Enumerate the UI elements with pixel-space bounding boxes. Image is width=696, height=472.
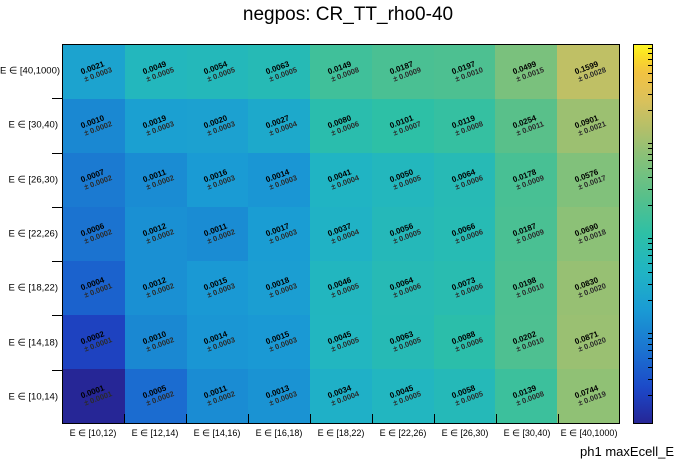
heatmap-cell-label: 0.0041± 0.0004: [321, 166, 360, 195]
heatmap-cell[interactable]: 0.0034± 0.0004: [310, 369, 372, 423]
heatmap-cell[interactable]: 0.0010± 0.0002: [125, 315, 187, 369]
heatmap-cell[interactable]: 0.0045± 0.0005: [310, 315, 372, 369]
heatmap-cell-error: ± 0.0021: [577, 120, 607, 138]
heatmap-cell-label: 0.0050± 0.0005: [383, 166, 422, 195]
heatmap-cell-error: ± 0.0011: [516, 120, 546, 138]
heatmap-cell-value: 0.0901: [569, 112, 605, 133]
heatmap-cell-label: 0.0045± 0.0005: [383, 382, 422, 411]
heatmap-cell-value: 0.0830: [569, 274, 605, 295]
heatmap-cell-error: ± 0.0003: [207, 174, 237, 192]
heatmap-cell-value: 0.0004: [74, 274, 110, 295]
heatmap-cell-value: 0.0046: [321, 274, 357, 295]
heatmap-cell-label: 0.0058± 0.0005: [445, 382, 484, 411]
heatmap-cell[interactable]: 0.0046± 0.0005: [310, 261, 372, 315]
x-axis-tick-mark: [124, 414, 125, 424]
heatmap-plot-area[interactable]: 0.0021± 0.00030.0049± 0.00050.0054± 0.00…: [62, 44, 620, 424]
heatmap-cell-value: 0.0744: [569, 382, 605, 403]
heatmap-cell-value: 0.0010: [136, 328, 172, 349]
heatmap-cell-label: 0.0064± 0.0006: [383, 274, 422, 303]
heatmap-cell[interactable]: 0.0005± 0.0002: [125, 369, 187, 423]
heatmap-cell-value: 0.0041: [321, 166, 357, 187]
heatmap-cell[interactable]: 0.0063± 0.0005: [248, 45, 310, 99]
heatmap-cell-label: 0.0066± 0.0006: [445, 220, 484, 249]
heatmap-cell-value: 0.0018: [260, 274, 296, 295]
heatmap-cell-error: ± 0.0004: [330, 228, 360, 246]
heatmap-cell-error: ± 0.0009: [516, 174, 546, 192]
heatmap-cell-error: ± 0.0006: [330, 120, 360, 138]
heatmap-cell-error: ± 0.0003: [83, 66, 113, 84]
heatmap-cell[interactable]: 0.0049± 0.0005: [125, 45, 187, 99]
heatmap-cell-value: 0.0005: [136, 382, 172, 403]
heatmap-cell-value: 0.0015: [198, 274, 234, 295]
heatmap-cell[interactable]: 0.0050± 0.0005: [372, 153, 434, 207]
heatmap-cell[interactable]: 0.0015± 0.0003: [187, 261, 249, 315]
heatmap-cell-error: ± 0.0004: [330, 390, 360, 408]
heatmap-cell-value: 0.0013: [260, 382, 296, 403]
heatmap-cell-error: ± 0.0001: [83, 282, 113, 300]
heatmap-cell-value: 0.0054: [198, 58, 234, 79]
heatmap-cell-label: 0.0045± 0.0005: [321, 328, 360, 357]
heatmap-cell-value: 0.0063: [260, 58, 296, 79]
heatmap-cell-value: 0.0690: [569, 220, 605, 241]
heatmap-cell[interactable]: 0.0041± 0.0004: [310, 153, 372, 207]
heatmap-cell-label: 0.0198± 0.0010: [507, 274, 546, 303]
y-axis-tick-label: E ∈ [30,40): [0, 120, 58, 131]
heatmap-cell-value: 0.0037: [321, 220, 357, 241]
heatmap-cell-error: ± 0.0018: [577, 228, 607, 246]
heatmap-cell[interactable]: 0.0744± 0.0019: [557, 369, 619, 423]
heatmap-cell-label: 0.0187± 0.0009: [507, 220, 546, 249]
heatmap-cell[interactable]: 0.0690± 0.0018: [557, 207, 619, 261]
colorbar-minor-tick: [648, 255, 653, 256]
heatmap-cell-error: ± 0.0004: [268, 120, 298, 138]
heatmap-cell-value: 0.0012: [136, 274, 172, 295]
heatmap-cell[interactable]: 0.0178± 0.0009: [495, 153, 557, 207]
heatmap-cell-label: 0.0002± 0.0001: [74, 328, 113, 357]
heatmap-cell-value: 0.0027: [260, 112, 296, 133]
heatmap-cell-error: ± 0.0009: [392, 66, 422, 84]
heatmap-cell[interactable]: 0.0017± 0.0003: [248, 207, 310, 261]
x-axis-tick-label: E ∈ [18,22): [318, 428, 365, 439]
heatmap-cell[interactable]: 0.0063± 0.0005: [372, 315, 434, 369]
x-axis-tick-label: E ∈ [30,40): [504, 428, 551, 439]
colorbar-minor-tick: [648, 160, 653, 161]
heatmap-cell-error: ± 0.0001: [83, 390, 113, 408]
x-axis-tick-label: E ∈ [26,30): [442, 428, 489, 439]
heatmap-cell-label: 0.0005± 0.0002: [136, 382, 175, 411]
heatmap-cell-error: ± 0.0005: [392, 174, 422, 192]
heatmap-cell[interactable]: 0.0198± 0.0010: [495, 261, 557, 315]
heatmap-cell-error: ± 0.0002: [145, 174, 175, 192]
heatmap-cell-error: ± 0.0008: [516, 390, 546, 408]
heatmap-cell-value: 0.0254: [507, 112, 543, 133]
heatmap-cell[interactable]: 0.0064± 0.0006: [372, 261, 434, 315]
heatmap-cell[interactable]: 0.0830± 0.0020: [557, 261, 619, 315]
heatmap-cell-label: 0.0018± 0.0003: [260, 274, 299, 303]
heatmap-cell-error: ± 0.0002: [207, 390, 237, 408]
heatmap-cell[interactable]: 0.0254± 0.0011: [495, 99, 557, 153]
heatmap-cell-value: 0.0178: [507, 166, 543, 187]
heatmap-cell-value: 0.0088: [445, 328, 481, 349]
heatmap-cell[interactable]: 0.0020± 0.0003: [187, 99, 249, 153]
x-axis-tick-label: E ∈ [40,1000): [561, 428, 618, 439]
x-axis-tick-mark: [186, 414, 187, 424]
heatmap-cell[interactable]: 0.0576± 0.0017: [557, 153, 619, 207]
heatmap-cell[interactable]: 0.0499± 0.0015: [495, 45, 557, 99]
heatmap-cell-value: 0.0187: [507, 220, 543, 241]
heatmap-cell[interactable]: 0.0045± 0.0005: [372, 369, 434, 423]
colorbar-minor-tick: [648, 243, 653, 244]
y-axis-tick-label: E ∈ [22,26): [0, 229, 58, 240]
heatmap-cell-value: 0.0056: [383, 220, 419, 241]
heatmap-cell-label: 0.0063± 0.0005: [383, 328, 422, 357]
colorbar-minor-tick: [648, 94, 653, 95]
x-axis-tick-mark: [372, 414, 373, 424]
colorbar-minor-tick: [648, 148, 653, 149]
heatmap-cell[interactable]: 0.0080± 0.0006: [310, 99, 372, 153]
heatmap-cell-value: 0.0149: [321, 58, 357, 79]
heatmap-cell[interactable]: 0.0027± 0.0004: [248, 99, 310, 153]
heatmap-cell-label: 0.0014± 0.0003: [198, 328, 237, 357]
heatmap-cell[interactable]: 0.0014± 0.0003: [187, 315, 249, 369]
heatmap-cell-error: ± 0.0003: [268, 174, 298, 192]
heatmap-cell-value: 0.0015: [260, 328, 296, 349]
x-axis-tick-mark: [310, 414, 311, 424]
heatmap-cell[interactable]: 0.0013± 0.0003: [248, 369, 310, 423]
heatmap-cell-value: 0.0020: [198, 112, 234, 133]
heatmap-cell-value: 0.0064: [383, 274, 419, 295]
colorbar-minor-tick: [648, 48, 653, 49]
heatmap-cell-value: 0.0187: [383, 58, 419, 79]
y-axis-tick-mark: [52, 370, 62, 371]
heatmap-cell[interactable]: 0.0007± 0.0002: [63, 153, 125, 207]
x-axis-tick-mark: [248, 414, 249, 424]
x-axis-tick-label: E ∈ [10,12): [70, 428, 117, 439]
heatmap-cell-label: 0.0006± 0.0002: [74, 220, 113, 249]
heatmap-cell[interactable]: 0.0101± 0.0007: [372, 99, 434, 153]
heatmap-cell-value: 0.0139: [507, 382, 543, 403]
y-axis-tick-label: E ∈ [10,14): [0, 391, 58, 402]
heatmap-cell-value: 0.0017: [260, 220, 296, 241]
heatmap-cell-label: 0.0013± 0.0003: [260, 382, 299, 411]
heatmap-cell[interactable]: 0.0002± 0.0001: [63, 315, 125, 369]
heatmap-cell-value: 0.0073: [445, 274, 481, 295]
heatmap-cell-value: 0.0019: [136, 112, 172, 133]
heatmap-cell-value: 0.0045: [383, 382, 419, 403]
heatmap-cell-error: ± 0.0002: [145, 390, 175, 408]
heatmap-cell-error: ± 0.0010: [516, 282, 546, 300]
heatmap-cell-label: 0.0254± 0.0011: [507, 112, 546, 141]
heatmap-cell-label: 0.0054± 0.0005: [198, 58, 237, 87]
colorbar-minor-tick: [648, 73, 653, 74]
heatmap-cell[interactable]: 0.0011± 0.0002: [187, 207, 249, 261]
colorbar-minor-tick: [648, 53, 653, 54]
heatmap-cell[interactable]: 0.0021± 0.0003: [63, 45, 125, 99]
heatmap-cell[interactable]: 0.0037± 0.0004: [310, 207, 372, 261]
heatmap-cell-error: ± 0.0015: [516, 66, 546, 84]
heatmap-cell[interactable]: 0.0018± 0.0003: [248, 261, 310, 315]
heatmap-cell-label: 0.0576± 0.0017: [569, 166, 608, 195]
heatmap-cell-error: ± 0.0006: [454, 282, 484, 300]
heatmap-cell-label: 0.0119± 0.0008: [445, 112, 484, 141]
colorbar-minor-tick: [648, 395, 653, 396]
colorbar-minor-tick: [648, 249, 653, 250]
heatmap-cell-error: ± 0.0008: [330, 66, 360, 84]
heatmap-cell[interactable]: 0.0064± 0.0006: [434, 153, 496, 207]
heatmap-cell-label: 0.0499± 0.0015: [507, 58, 546, 87]
heatmap-cell-error: ± 0.0002: [83, 174, 113, 192]
heatmap-cell-label: 0.1599± 0.0028: [569, 58, 608, 87]
y-axis-tick-mark: [52, 261, 62, 262]
colorbar-minor-tick: [648, 168, 653, 169]
colorbar-minor-tick: [648, 344, 653, 345]
heatmap-cell-value: 0.0011: [198, 220, 234, 241]
heatmap-cell[interactable]: 0.0202± 0.0010: [495, 315, 557, 369]
heatmap-cell-error: ± 0.0020: [577, 282, 607, 300]
heatmap-cell[interactable]: 0.0073± 0.0006: [434, 261, 496, 315]
colorbar-minor-tick: [648, 189, 653, 190]
y-axis-tick-label: E ∈ [18,22): [0, 283, 58, 294]
heatmap-cell-error: ± 0.0009: [516, 228, 546, 246]
heatmap-cell-error: ± 0.0002: [145, 282, 175, 300]
colorbar-minor-tick: [648, 82, 653, 83]
heatmap-cell[interactable]: 0.0149± 0.0008: [310, 45, 372, 99]
heatmap-cell-label: 0.0034± 0.0004: [321, 382, 360, 411]
heatmap-cell-label: 0.0901± 0.0021: [569, 112, 608, 141]
colorbar-minor-tick: [648, 284, 653, 285]
heatmap-cell[interactable]: 0.0019± 0.0003: [125, 99, 187, 153]
colorbar-minor-tick: [648, 154, 653, 155]
heatmap-cell-value: 0.0576: [569, 166, 605, 187]
heatmap-cell-label: 0.0021± 0.0003: [74, 58, 113, 87]
x-axis-tick-mark: [496, 414, 497, 424]
heatmap-cell-label: 0.0014± 0.0003: [260, 166, 299, 195]
heatmap-cell-error: ± 0.0005: [392, 336, 422, 354]
heatmap-cell-error: ± 0.0003: [268, 390, 298, 408]
heatmap-cell-value: 0.0063: [383, 328, 419, 349]
heatmap-cell[interactable]: 0.0012± 0.0002: [125, 207, 187, 261]
heatmap-cell-value: 0.0011: [136, 166, 172, 187]
heatmap-cell[interactable]: 0.0088± 0.0006: [434, 315, 496, 369]
heatmap-cell-error: ± 0.0001: [83, 336, 113, 354]
y-axis-tick-mark: [52, 315, 62, 316]
heatmap-cell-label: 0.0690± 0.0018: [569, 220, 608, 249]
colorbar-minor-tick: [648, 143, 653, 144]
heatmap-cell-value: 0.0202: [507, 328, 543, 349]
heatmap-cell-error: ± 0.0007: [392, 120, 422, 138]
heatmap-cell-label: 0.0149± 0.0008: [321, 58, 360, 87]
heatmap-cell[interactable]: 0.0197± 0.0010: [434, 45, 496, 99]
heatmap-cell-label: 0.0011± 0.0002: [198, 382, 237, 411]
heatmap-cell-value: 0.0080: [321, 112, 357, 133]
heatmap-cell-value: 0.0001: [74, 382, 110, 403]
colorbar-minor-tick: [648, 379, 653, 380]
heatmap-cell-error: ± 0.0003: [268, 282, 298, 300]
heatmap-cell-label: 0.0004± 0.0001: [74, 274, 113, 303]
heatmap-cell-error: ± 0.0002: [207, 228, 237, 246]
heatmap-cell-error: ± 0.0006: [454, 228, 484, 246]
x-axis-tick-mark: [434, 414, 435, 424]
heatmap-cell-value: 0.0066: [445, 220, 481, 241]
colorbar-minor-tick: [648, 205, 653, 206]
heatmap-cell-label: 0.0010± 0.0002: [136, 328, 175, 357]
heatmap-cell[interactable]: 0.0014± 0.0003: [248, 153, 310, 207]
heatmap-cell-value: 0.1599: [569, 58, 605, 79]
colorbar-minor-tick: [648, 338, 653, 339]
heatmap-cell-error: ± 0.0005: [207, 66, 237, 84]
heatmap-cell-label: 0.0056± 0.0005: [383, 220, 422, 249]
heatmap-cell-error: ± 0.0003: [207, 336, 237, 354]
x-axis-tick-label: E ∈ [14,16): [194, 428, 241, 439]
heatmap-cell-value: 0.0064: [445, 166, 481, 187]
colorbar-minor-tick: [648, 367, 653, 368]
heatmap-cell-value: 0.0197: [445, 58, 481, 79]
heatmap-cell-error: ± 0.0005: [145, 66, 175, 84]
heatmap-cell[interactable]: 0.0066± 0.0006: [434, 207, 496, 261]
heatmap-cell-label: 0.0016± 0.0003: [198, 166, 237, 195]
y-axis-tick-mark: [52, 207, 62, 208]
heatmap-cell-label: 0.0197± 0.0010: [445, 58, 484, 87]
heatmap-cell-value: 0.0050: [383, 166, 419, 187]
colorbar-minor-tick: [648, 272, 653, 273]
heatmap-cell-value: 0.0049: [136, 58, 172, 79]
heatmap-cell-label: 0.0064± 0.0006: [445, 166, 484, 195]
heatmap-cell[interactable]: 0.0901± 0.0021: [557, 99, 619, 153]
heatmap-cell-error: ± 0.0002: [83, 120, 113, 138]
heatmap-cell[interactable]: 0.0012± 0.0002: [125, 261, 187, 315]
heatmap-cell-error: ± 0.0005: [330, 336, 360, 354]
heatmap-cell-value: 0.0058: [445, 382, 481, 403]
heatmap-cell-label: 0.0744± 0.0019: [569, 382, 608, 411]
heatmap-cell-label: 0.0063± 0.0005: [260, 58, 299, 87]
heatmap-cell-error: ± 0.0008: [454, 120, 484, 138]
heatmap-cell-error: ± 0.0028: [577, 66, 607, 84]
heatmap-cell-label: 0.0015± 0.0003: [260, 328, 299, 357]
colorbar-minor-tick: [648, 238, 653, 239]
heatmap-cell[interactable]: 0.0006± 0.0002: [63, 207, 125, 261]
heatmap-cell-value: 0.0010: [74, 112, 110, 133]
heatmap-cell-value: 0.0119: [445, 112, 481, 133]
heatmap-cell-label: 0.0007± 0.0002: [74, 166, 113, 195]
heatmap-cell-label: 0.0012± 0.0002: [136, 274, 175, 303]
y-axis-tick-mark: [52, 153, 62, 154]
heatmap-cell-error: ± 0.0006: [454, 174, 484, 192]
colorbar-minor-tick: [648, 358, 653, 359]
heatmap-cell[interactable]: 0.0119± 0.0008: [434, 99, 496, 153]
colorbar-minor-tick: [648, 59, 653, 60]
colorbar-minor-tick: [648, 350, 653, 351]
heatmap-cell[interactable]: 0.0871± 0.0020: [557, 315, 619, 369]
heatmap-cell-error: ± 0.0005: [330, 282, 360, 300]
heatmap-cell[interactable]: 0.0011± 0.0002: [187, 369, 249, 423]
heatmap-cell-error: ± 0.0006: [392, 282, 422, 300]
heatmap-cell[interactable]: 0.0010± 0.0002: [63, 99, 125, 153]
heatmap-cell-error: ± 0.0002: [145, 228, 175, 246]
heatmap-cell-label: 0.0037± 0.0004: [321, 220, 360, 249]
x-axis-title: ph1 maxEcell_E: [0, 444, 674, 459]
heatmap-cell[interactable]: 0.0011± 0.0002: [125, 153, 187, 207]
heatmap-cell-error: ± 0.0017: [577, 174, 607, 192]
heatmap-cell[interactable]: 0.1599± 0.0028: [557, 45, 619, 99]
heatmap-cell-error: ± 0.0003: [268, 336, 298, 354]
heatmap-cell-label: 0.0011± 0.0002: [198, 220, 237, 249]
heatmap-cell[interactable]: 0.0139± 0.0008: [495, 369, 557, 423]
heatmap-cell-label: 0.0010± 0.0002: [74, 112, 113, 141]
heatmap-cell-error: ± 0.0010: [516, 336, 546, 354]
heatmap-cell[interactable]: 0.0016± 0.0003: [187, 153, 249, 207]
heatmap-cell-label: 0.0101± 0.0007: [383, 112, 422, 141]
heatmap-cell-error: ± 0.0020: [577, 336, 607, 354]
heatmap-cell-value: 0.0016: [198, 166, 234, 187]
heatmap-cell-value: 0.0014: [260, 166, 296, 187]
heatmap-cell-label: 0.0020± 0.0003: [198, 112, 237, 141]
heatmap-cell-error: ± 0.0005: [268, 66, 298, 84]
heatmap-cell-value: 0.0002: [74, 328, 110, 349]
heatmap-cell-value: 0.0499: [507, 58, 543, 79]
colorbar-minor-tick: [648, 110, 653, 111]
y-axis-tick-label: E ∈ [14,18): [0, 337, 58, 348]
heatmap-cell-error: ± 0.0005: [454, 390, 484, 408]
heatmap-cell-label: 0.0019± 0.0003: [136, 112, 175, 141]
heatmap-cell-value: 0.0045: [321, 328, 357, 349]
colorbar-minor-tick: [648, 65, 653, 66]
heatmap-cell-label: 0.0073± 0.0006: [445, 274, 484, 303]
heatmap-cell[interactable]: 0.0056± 0.0005: [372, 207, 434, 261]
heatmap-cell-error: ± 0.0004: [330, 174, 360, 192]
heatmap-cell-label: 0.0011± 0.0002: [136, 166, 175, 195]
heatmap-cell[interactable]: 0.0015± 0.0003: [248, 315, 310, 369]
heatmap-cell-value: 0.0007: [74, 166, 110, 187]
page-title: negpos: CR_TT_rho0-40: [0, 4, 696, 26]
heatmap-cell-label: 0.0049± 0.0005: [136, 58, 175, 87]
heatmap-cell-label: 0.0830± 0.0020: [569, 274, 608, 303]
heatmap-cell-value: 0.0101: [383, 112, 419, 133]
heatmap-cell-error: ± 0.0002: [145, 336, 175, 354]
colorbar-minor-tick: [648, 263, 653, 264]
heatmap-cell[interactable]: 0.0187± 0.0009: [495, 207, 557, 261]
heatmap-cell-error: ± 0.0002: [83, 228, 113, 246]
heatmap-cell-grid: 0.0021± 0.00030.0049± 0.00050.0054± 0.00…: [63, 45, 619, 423]
heatmap-cell-value: 0.0198: [507, 274, 543, 295]
heatmap-cell-label: 0.0088± 0.0006: [445, 328, 484, 357]
heatmap-cell[interactable]: 0.0004± 0.0001: [63, 261, 125, 315]
heatmap-cell-label: 0.0046± 0.0005: [321, 274, 360, 303]
colorbar-minor-tick: [648, 300, 653, 301]
heatmap-cell-label: 0.0139± 0.0008: [507, 382, 546, 411]
x-axis-tick-mark: [558, 414, 559, 424]
heatmap-cell-label: 0.0202± 0.0010: [507, 328, 546, 357]
colorbar-minor-tick: [648, 177, 653, 178]
heatmap-cell-label: 0.0012± 0.0002: [136, 220, 175, 249]
heatmap-cell-error: ± 0.0005: [392, 228, 422, 246]
heatmap-cell-value: 0.0014: [198, 328, 234, 349]
colorbar-minor-tick: [648, 333, 653, 334]
heatmap-cell[interactable]: 0.0054± 0.0005: [187, 45, 249, 99]
heatmap-cell-label: 0.0080± 0.0006: [321, 112, 360, 141]
heatmap-cell[interactable]: 0.0001± 0.0001: [63, 369, 125, 423]
heatmap-cell-label: 0.0001± 0.0001: [74, 382, 113, 411]
heatmap-cell-label: 0.0015± 0.0003: [198, 274, 237, 303]
heatmap-cell-value: 0.0871: [569, 328, 605, 349]
heatmap-cell-error: ± 0.0003: [207, 282, 237, 300]
heatmap-cell-value: 0.0021: [74, 58, 110, 79]
plot-canvas: negpos: CR_TT_rho0-40 E ∈ [40,1000)E ∈ […: [0, 0, 696, 472]
heatmap-cell-label: 0.0871± 0.0020: [569, 328, 608, 357]
heatmap-cell[interactable]: 0.0187± 0.0009: [372, 45, 434, 99]
heatmap-cell-error: ± 0.0019: [577, 390, 607, 408]
heatmap-cell[interactable]: 0.0058± 0.0005: [434, 369, 496, 423]
y-axis-tick-label: E ∈ [40,1000): [0, 66, 58, 77]
